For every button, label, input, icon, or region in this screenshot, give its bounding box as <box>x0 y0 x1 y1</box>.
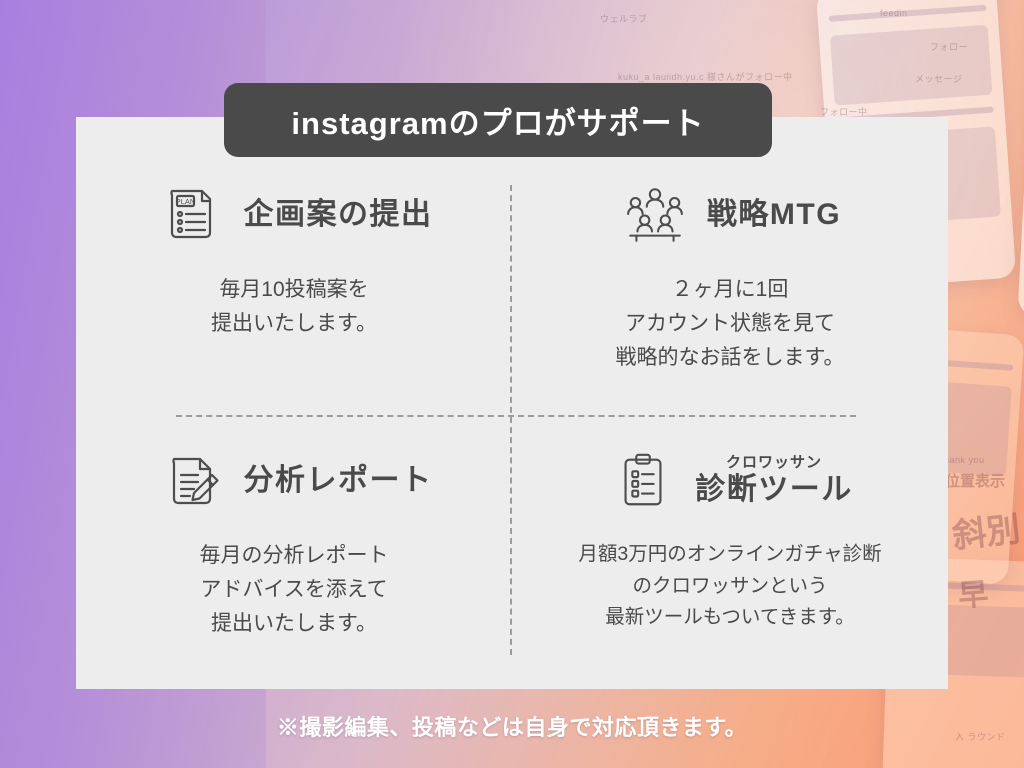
poster-canvas: feedin ウェルラブ フォロー メッセージ フォロー中 kuku_a lau… <box>0 0 1024 768</box>
feature-header: 戦略MTG <box>534 167 926 263</box>
background-ghost-heading: 早 <box>957 569 990 615</box>
feature-cell-diagnosis-tool: クロワッサン 診断ツール 月額3万円のオンラインガチャ診断 のクロワッサンという… <box>512 423 948 689</box>
feature-ruby-text: クロワッサン <box>726 455 822 472</box>
feature-title: 戦略MTG <box>707 198 841 233</box>
feature-title: 分析レポート <box>244 464 433 499</box>
horizontal-divider <box>176 415 856 417</box>
vertical-divider <box>510 185 512 655</box>
background-ghost-text: メッセージ <box>915 72 962 85</box>
meeting-people-icon <box>619 179 691 251</box>
feature-cell-plan-proposal: PLAN 企画案の提出 毎月10投稿案を 提出いたします。 <box>76 157 512 423</box>
background-ghost-text: ウェルラブ <box>600 12 648 25</box>
feature-header: 分析レポート <box>98 433 490 529</box>
feature-header: PLAN 企画案の提出 <box>98 167 490 263</box>
feature-description: 毎月10投稿案を 提出いたします。 <box>211 273 377 341</box>
footer-note: ※撮影編集、投稿などは自身で対応頂きます。 <box>0 710 1024 742</box>
feature-header: クロワッサン 診断ツール <box>534 433 926 529</box>
background-phone-mockup <box>1018 0 1024 325</box>
feature-cell-analysis-report: 分析レポート 毎月の分析レポート アドバイスを添えて 提出いたします。 <box>76 423 512 689</box>
background-ghost-text: kuku_a lauiidh.yu.c 様さんがフォロー中 <box>618 70 793 83</box>
clipboard-checklist-icon <box>607 445 679 517</box>
feature-grid: PLAN 企画案の提出 毎月10投稿案を 提出いたします。 <box>76 157 948 689</box>
feature-cell-strategy-meeting: 戦略MTG ２ヶ月に1回 アカウント状態を見て 戦略的なお話をします。 <box>512 157 948 423</box>
background-ghost-text: フォロー <box>930 40 968 53</box>
background-ghost-heading: 斜別 <box>950 502 1023 558</box>
feature-title-group: 戦略MTG <box>707 198 841 233</box>
page-title: instagramのプロがサポート <box>291 98 704 143</box>
feature-title-group: 分析レポート <box>244 464 433 499</box>
feature-description: ２ヶ月に1回 アカウント状態を見て 戦略的なお話をします。 <box>616 273 845 375</box>
title-banner: instagramのプロがサポート <box>224 83 772 157</box>
feature-title-group: クロワッサン 診断ツール <box>695 455 853 508</box>
background-ghost-text: feedin <box>880 8 908 18</box>
feature-title: 企画案の提出 <box>244 198 433 233</box>
feature-title: 診断ツール <box>695 473 853 508</box>
feature-title-group: 企画案の提出 <box>244 198 433 233</box>
svg-text:PLAN: PLAN <box>175 197 195 206</box>
report-pencil-icon <box>156 445 228 517</box>
feature-description: 毎月の分析レポート アドバイスを添えて 提出いたします。 <box>200 539 389 641</box>
feature-description: 月額3万円のオンラインガチャ診断 のクロワッサンという 最新ツールもついてきます… <box>578 539 881 634</box>
document-plan-icon: PLAN <box>156 179 228 251</box>
